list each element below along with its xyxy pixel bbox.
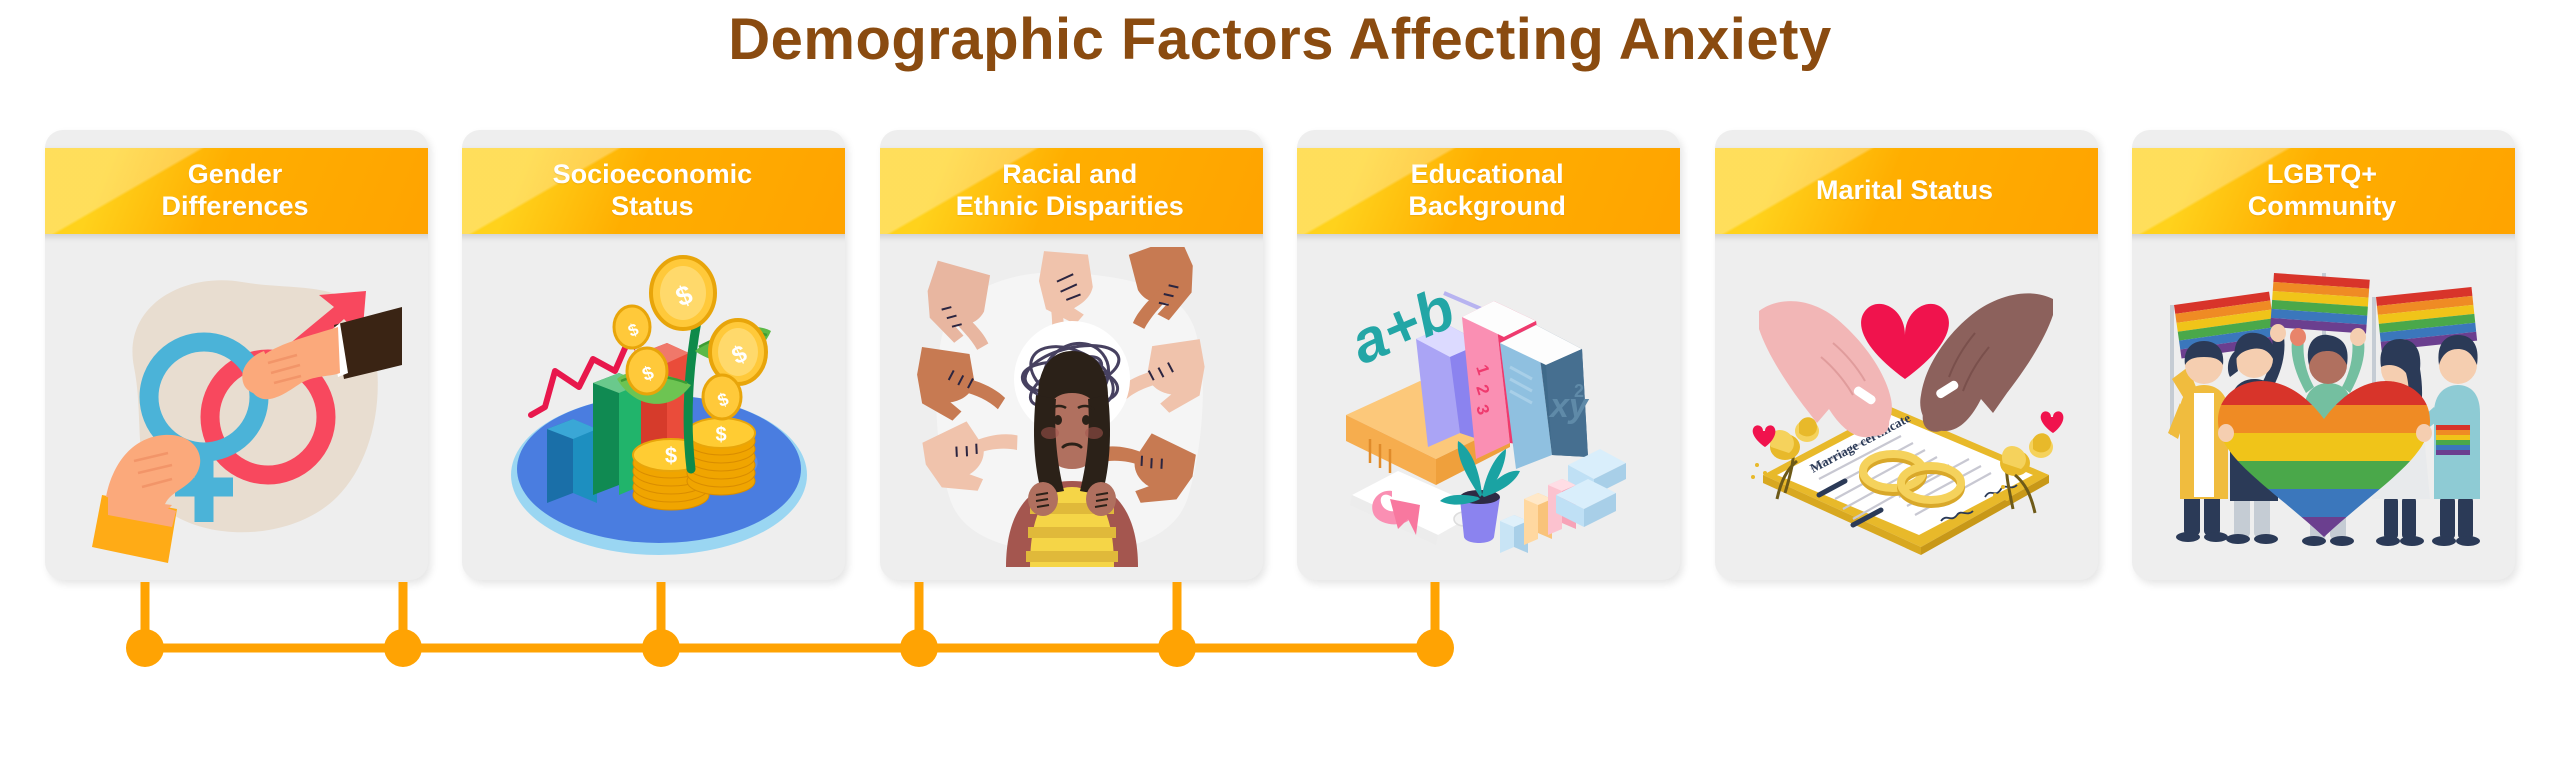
card-body: Marital Status	[1715, 130, 2098, 580]
books-diploma-isometric-illustration: 1 2 3 xy 2 a+b	[1297, 234, 1680, 580]
card-socioeconomic-status[interactable]: Socioeconomic Status	[462, 130, 845, 580]
card-header-gender-differences: Gender Differences	[45, 148, 428, 234]
card-title: LGBTQ+ Community	[2238, 159, 2407, 223]
timeline-nodes[interactable]	[126, 629, 1454, 667]
card-title: Marital Status	[1806, 175, 2003, 207]
card-header-marital-status: Marital Status	[1715, 148, 2098, 234]
money-plant-coins-chart-illustration: $ $	[462, 234, 845, 580]
card-educational-background[interactable]: Educational Background	[1297, 130, 1680, 580]
card-title: Socioeconomic Status	[543, 159, 763, 223]
card-body: Racial and Ethnic Disparities	[880, 130, 1263, 580]
timeline-connector	[0, 560, 2560, 720]
gender-symbols-hands-illustration	[45, 234, 428, 580]
factor-cards-row: Gender Differences	[45, 130, 2515, 580]
card-body: LGBTQ+ Community	[2132, 130, 2515, 580]
card-header-socioeconomic-status: Socioeconomic Status	[462, 148, 845, 234]
card-gender-differences[interactable]: Gender Differences	[45, 130, 428, 580]
card-title: Gender Differences	[151, 159, 318, 223]
timeline-stems	[145, 582, 1435, 648]
card-header-educational-background: Educational Background	[1297, 148, 1680, 234]
card-title: Educational Background	[1398, 159, 1576, 223]
svg-text:$: $	[715, 424, 726, 446]
card-body: Educational Background	[1297, 130, 1680, 580]
card-lgbtq-community[interactable]: LGBTQ+ Community	[2132, 130, 2515, 580]
card-marital-status[interactable]: Marital Status	[1715, 130, 2098, 580]
svg-text:2: 2	[1574, 381, 1584, 401]
card-header-lgbtq-community: LGBTQ+ Community	[2132, 148, 2515, 234]
pointing-fingers-woman-illustration	[880, 234, 1263, 580]
pride-parade-rainbow-heart-illustration	[2132, 234, 2515, 580]
page-title: Demographic Factors Affecting Anxiety	[0, 8, 2560, 72]
svg-text:$: $	[665, 443, 677, 468]
marriage-certificate-rings-illustration: Marriage certificate	[1715, 234, 2098, 580]
card-header-racial-ethnic-disparities: Racial and Ethnic Disparities	[880, 148, 1263, 234]
card-title: Racial and Ethnic Disparities	[946, 159, 1194, 223]
card-racial-ethnic-disparities[interactable]: Racial and Ethnic Disparities	[880, 130, 1263, 580]
card-body: Socioeconomic Status	[462, 130, 845, 580]
card-body: Gender Differences	[45, 130, 428, 580]
